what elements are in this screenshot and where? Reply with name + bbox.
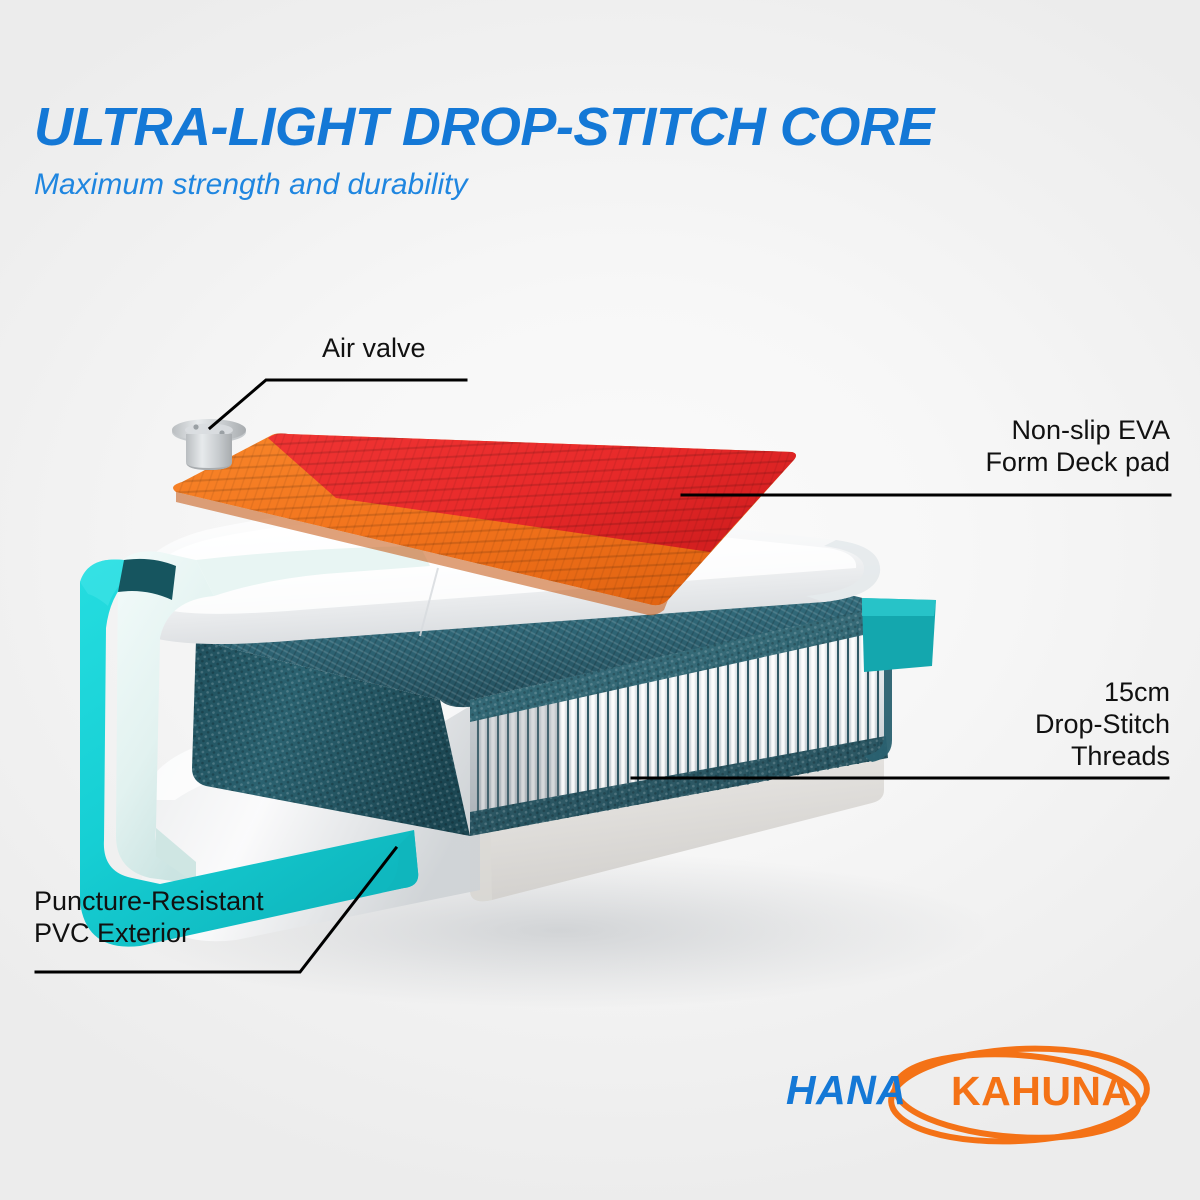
annotation-label-drop-stitch: 15cm Drop-Stitch Threads (900, 677, 1170, 773)
logo-text-kahuna: KAHUNA (951, 1068, 1132, 1115)
brand-logo: HANA KAHUNA (786, 1040, 1156, 1150)
logo-text-hana: HANA (786, 1067, 906, 1114)
leader-air-valve (210, 380, 466, 428)
annotation-label-eva-deck-pad: Non-slip EVA Form Deck pad (820, 415, 1170, 479)
annotation-label-air-valve: Air valve (322, 333, 426, 365)
page-title: ULTRA-LIGHT DROP-STITCH CORE (34, 100, 1134, 154)
header: ULTRA-LIGHT DROP-STITCH CORE Maximum str… (34, 100, 1134, 201)
page-subtitle: Maximum strength and durability (34, 168, 1134, 201)
annotation-label-pvc-exterior: Puncture-Resistant PVC Exterior (34, 886, 264, 950)
infographic-canvas: ULTRA-LIGHT DROP-STITCH CORE Maximum str… (0, 0, 1200, 1200)
core-fabric-tail (862, 598, 936, 672)
